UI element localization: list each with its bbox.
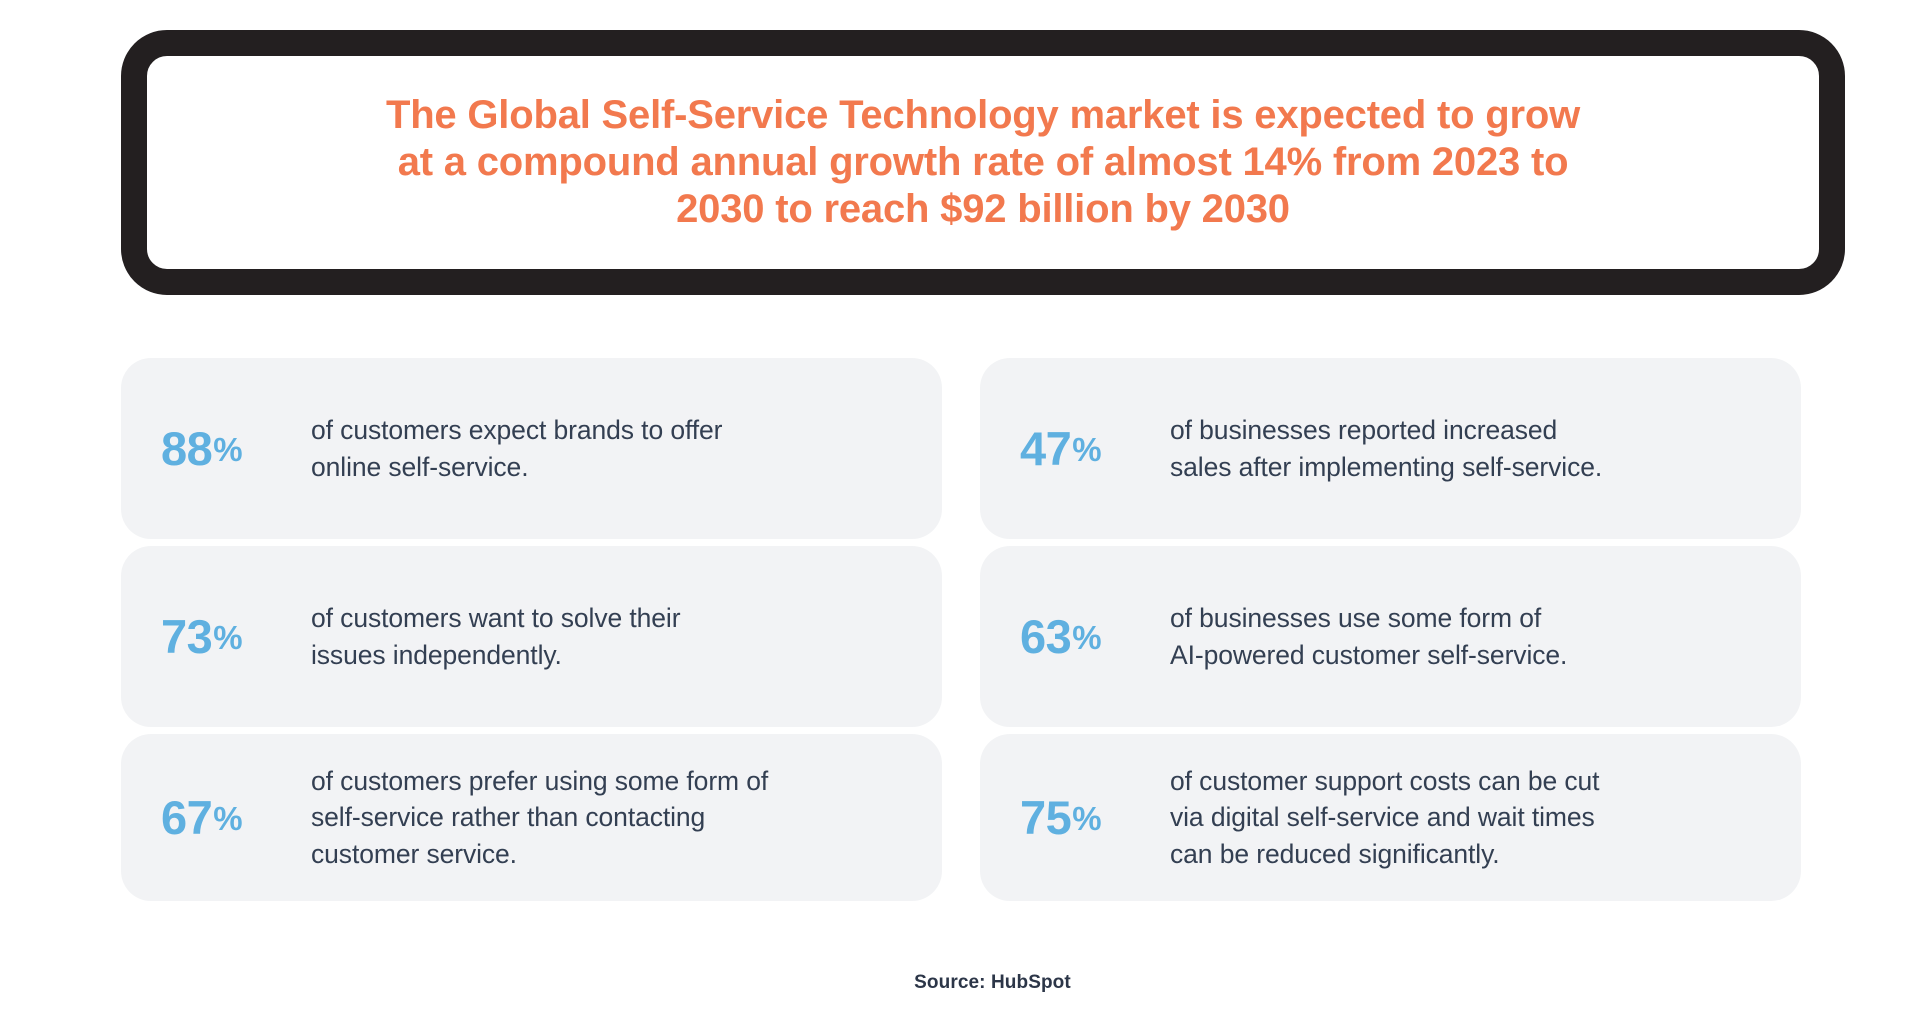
stat-number: 67 <box>161 791 212 844</box>
percent-symbol: % <box>1072 431 1101 468</box>
stat-card: 63% of businesses use some form of AI-po… <box>980 546 1801 727</box>
stat-percent-value: 47% <box>1020 425 1170 472</box>
stat-number: 88 <box>161 422 212 475</box>
stat-number: 73 <box>161 610 212 663</box>
statistics-grid: 88% of customers expect brands to offer … <box>121 358 1801 901</box>
stat-number: 75 <box>1020 791 1071 844</box>
stat-card: 73% of customers want to solve their iss… <box>121 546 942 727</box>
stat-number: 47 <box>1020 422 1071 475</box>
stat-card: 67% of customers prefer using some form … <box>121 734 942 901</box>
percent-symbol: % <box>213 619 242 656</box>
stat-percent-value: 75% <box>1020 794 1170 841</box>
percent-symbol: % <box>1072 800 1101 837</box>
stat-card: 47% of businesses reported increased sal… <box>980 358 1801 539</box>
stat-percent-value: 73% <box>161 613 311 660</box>
stat-description: of customers expect brands to offer onli… <box>311 412 908 484</box>
stat-card: 88% of customers expect brands to offer … <box>121 358 942 539</box>
stat-card: 75% of customer support costs can be cut… <box>980 734 1801 901</box>
stat-description: of businesses reported increased sales a… <box>1170 412 1767 484</box>
headline-callout-box: The Global Self-Service Technology marke… <box>121 30 1845 295</box>
stat-description: of customers prefer using some form of s… <box>311 763 908 871</box>
stat-percent-value: 67% <box>161 794 311 841</box>
stat-description: of customer support costs can be cut via… <box>1170 763 1767 871</box>
headline-text: The Global Self-Service Technology marke… <box>360 92 1606 234</box>
percent-symbol: % <box>1072 619 1101 656</box>
percent-symbol: % <box>213 431 242 468</box>
infographic-canvas: The Global Self-Service Technology marke… <box>0 0 1921 1035</box>
percent-symbol: % <box>213 800 242 837</box>
source-attribution: Source: HubSpot <box>0 972 1921 994</box>
stat-percent-value: 63% <box>1020 613 1170 660</box>
stat-description: of customers want to solve their issues … <box>311 600 908 672</box>
stat-percent-value: 88% <box>161 425 311 472</box>
stat-number: 63 <box>1020 610 1071 663</box>
stat-description: of businesses use some form of AI-powere… <box>1170 600 1767 672</box>
